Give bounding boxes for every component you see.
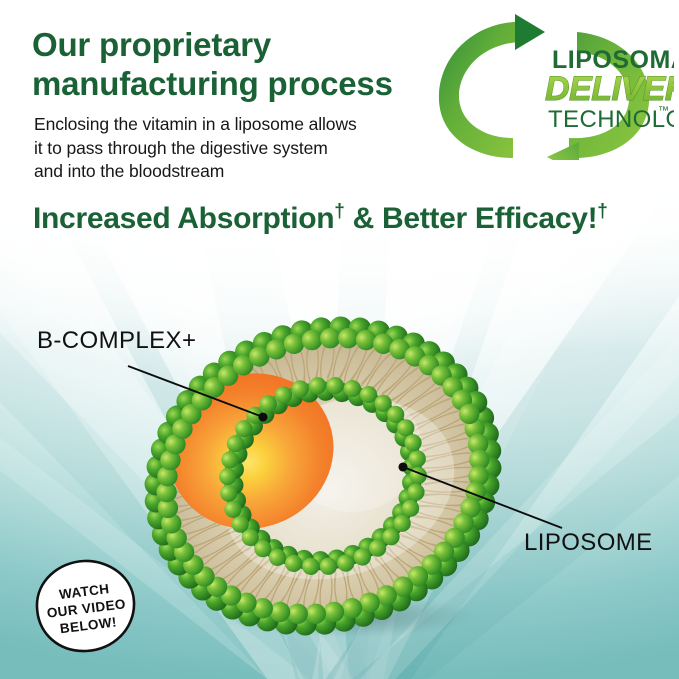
benefit-headline-text-1: Increased Absorption — [33, 202, 334, 235]
logo-line-technology: TECHNOLOGY — [548, 106, 674, 133]
callout-label-b-complex: B-COMPLEX+ — [37, 327, 196, 355]
page-title-line-1: Our proprietary — [32, 26, 432, 65]
subtitle-line-1: Enclosing the vitamin in a liposome allo… — [34, 113, 424, 137]
subtitle-line-2: it to pass through the digestive system — [34, 137, 424, 161]
subtitle-paragraph: Enclosing the vitamin in a liposome allo… — [34, 113, 424, 184]
watch-video-badge[interactable]: WATCH OUR VIDEO BELOW! — [34, 558, 138, 654]
callout-label-liposome: LIPOSOME — [524, 529, 653, 557]
liposomal-delivery-technology-logo: LIPOSOMAL DELIVERY TECHNOLOGY ™ — [424, 12, 674, 160]
logo-arrow-upper — [439, 14, 545, 158]
benefit-dagger-2: † — [597, 201, 607, 222]
infographic-canvas: Our proprietary manufacturing process En… — [0, 0, 679, 679]
benefit-headline: Increased Absorption† & Better Efficacy!… — [33, 202, 608, 236]
liposome-diagram — [138, 316, 508, 646]
benefit-dagger-1: † — [334, 201, 344, 222]
benefit-headline-text-2: & Better Efficacy! — [345, 202, 598, 235]
logo-line-delivery: DELIVERY — [545, 70, 674, 108]
subtitle-line-3: and into the bloodstream — [34, 160, 424, 184]
page-title-line-2: manufacturing process — [32, 65, 432, 104]
logo-trademark-symbol: ™ — [658, 105, 669, 117]
page-title: Our proprietary manufacturing process — [32, 26, 432, 103]
